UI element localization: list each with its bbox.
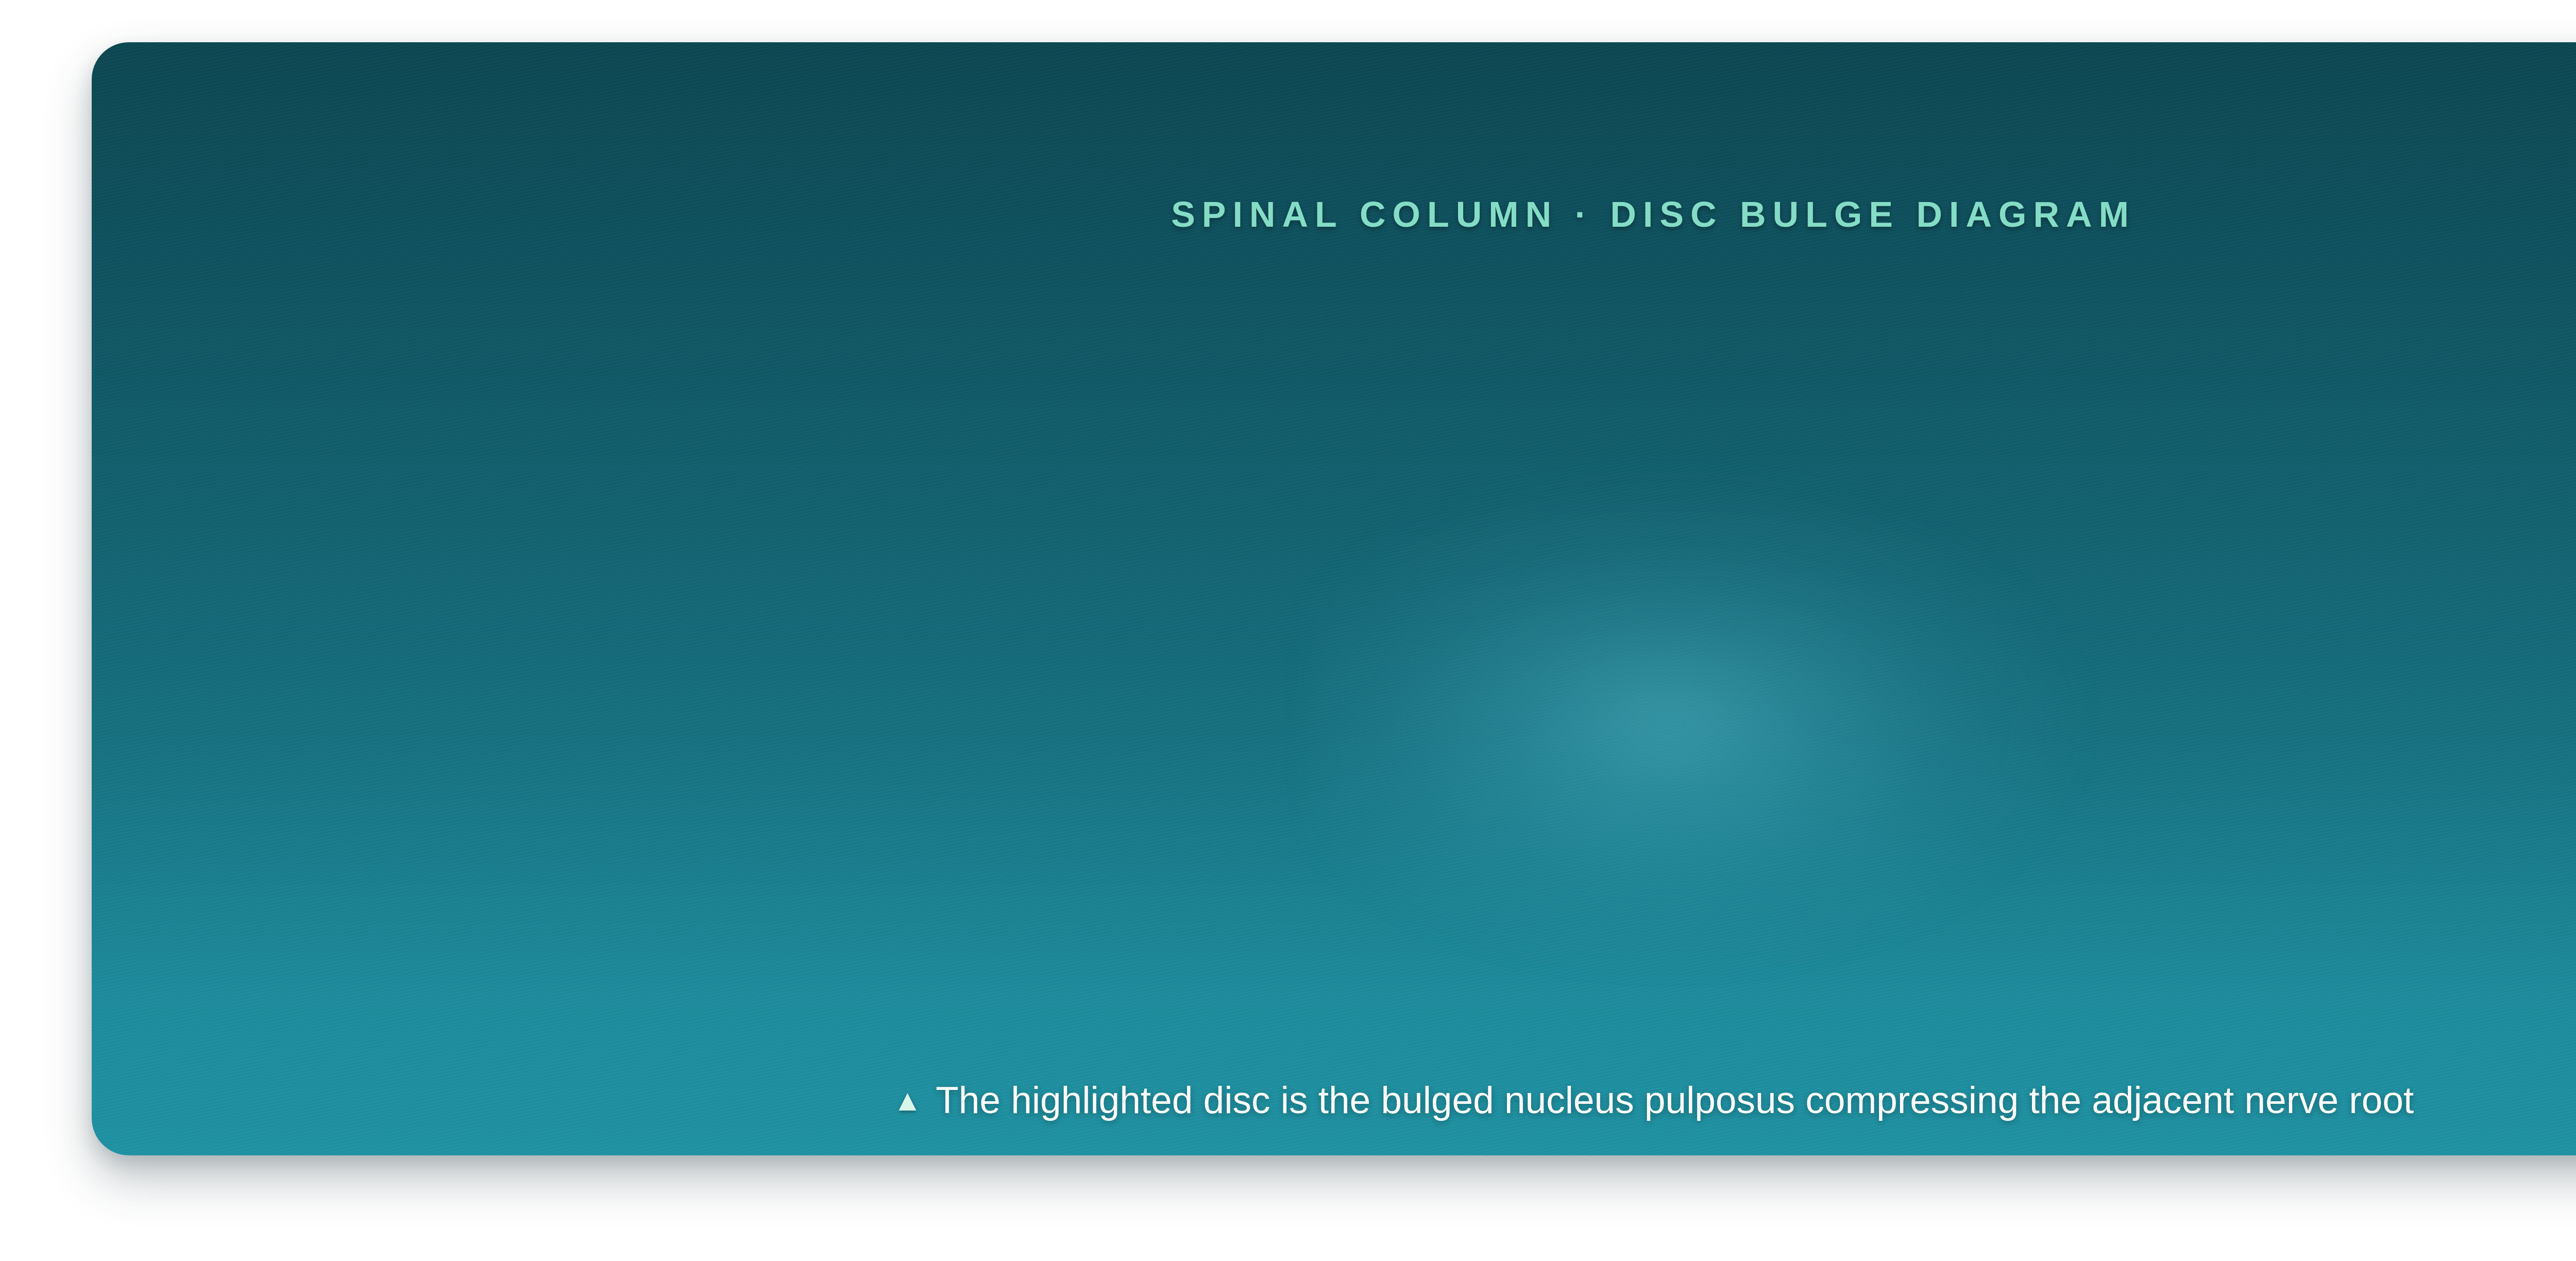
page-title: SPINAL COLUMN · DISC BULGE DIAGRAM [92, 194, 2576, 235]
spine-illustration [1364, 228, 2261, 1063]
intervertebral-disc-healthy-lower [1509, 600, 1842, 679]
diagram-card: SPINAL COLUMN · DISC BULGE DIAGRAM [92, 42, 2576, 1155]
triangle-marker-icon: ▲ [893, 1086, 922, 1116]
vertebral-body-upper [1515, 259, 1832, 434]
caption: ▲ The highlighted disc is the bulged nuc… [92, 1079, 2576, 1122]
spinous-process-lower [1905, 683, 2140, 829]
intervertebral-disc-healthy-upper [1507, 422, 1840, 501]
vertebral-body-lower [1511, 919, 1836, 1063]
caption-text: The highlighted disc is the bulged nucle… [936, 1079, 2414, 1122]
spinous-process-middle [1905, 508, 2142, 653]
posterior-elements [1855, 316, 2143, 960]
intervertebral-disc-healthy-bottom [1510, 855, 1839, 928]
vertebral-body-middle [1511, 492, 1838, 612]
